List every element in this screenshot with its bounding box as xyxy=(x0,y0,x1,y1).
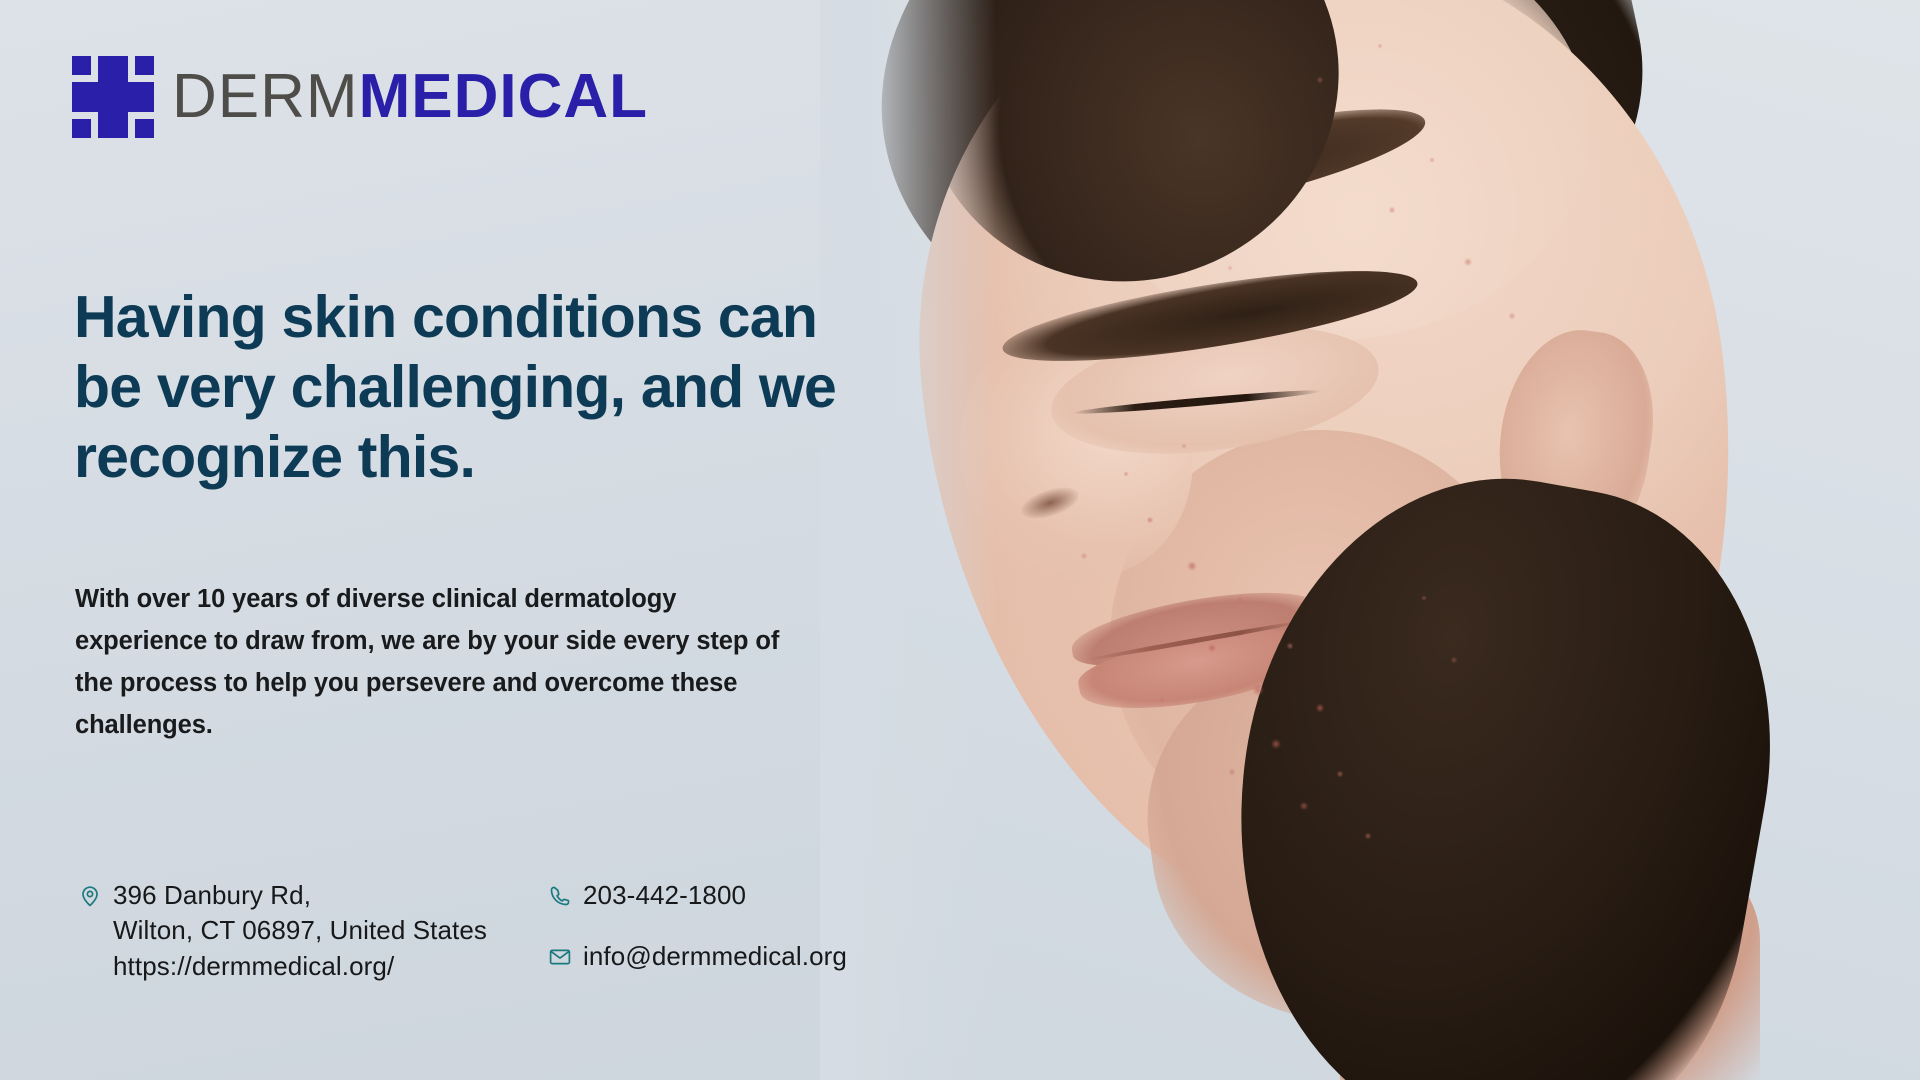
dermmedical-hero-banner: DERMMEDICAL Having skin conditions can b… xyxy=(0,0,1920,1080)
email-address[interactable]: info@dermmedical.org xyxy=(583,939,847,974)
contact-column-address: 396 Danbury Rd, Wilton, CT 06897, United… xyxy=(78,878,548,984)
phone-icon xyxy=(548,884,572,908)
hero-headline: Having skin conditions can be very chall… xyxy=(74,282,854,493)
hero-content: DERMMEDICAL Having skin conditions can b… xyxy=(0,0,920,1080)
map-pin-icon xyxy=(78,884,102,908)
address-text: 396 Danbury Rd, Wilton, CT 06897, United… xyxy=(113,878,487,984)
brand-wordmark: DERMMEDICAL xyxy=(172,66,648,128)
patient-portrait-photo xyxy=(820,0,1920,1080)
photo-left-fade xyxy=(820,0,1920,1080)
contact-phone[interactable]: 203-442-1800 xyxy=(548,878,898,913)
contact-address[interactable]: 396 Danbury Rd, Wilton, CT 06897, United… xyxy=(78,878,548,984)
brand-name-derm: DERM xyxy=(172,62,359,131)
brand-logo[interactable]: DERMMEDICAL xyxy=(72,56,648,138)
phone-number[interactable]: 203-442-1800 xyxy=(583,878,746,913)
website-url[interactable]: https://dermmedical.org/ xyxy=(113,949,487,984)
address-line-1: 396 Danbury Rd, xyxy=(113,878,487,913)
contact-block: 396 Danbury Rd, Wilton, CT 06897, United… xyxy=(78,878,898,984)
envelope-icon xyxy=(548,945,572,969)
contact-email[interactable]: info@dermmedical.org xyxy=(548,939,898,974)
dermmedical-square-grid-logo-icon xyxy=(72,56,154,138)
address-line-2: Wilton, CT 06897, United States xyxy=(113,913,487,948)
brand-name-medical: MEDICAL xyxy=(359,62,648,131)
hero-paragraph: With over 10 years of diverse clinical d… xyxy=(75,578,815,746)
contact-column-phone-email: 203-442-1800 info@dermmedical.org xyxy=(548,878,898,984)
